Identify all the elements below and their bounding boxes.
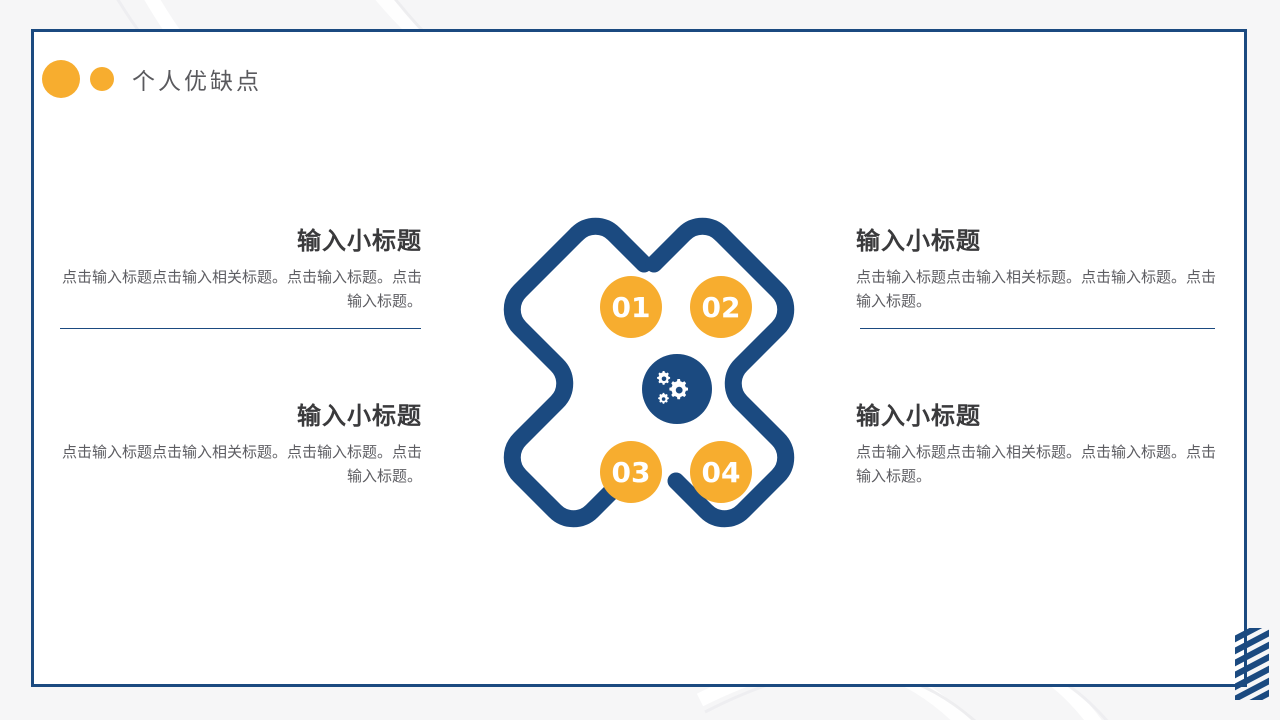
block-body-top-left: 点击输入标题点击输入相关标题。点击输入标题。点击输入标题。 (60, 265, 422, 314)
slide-header: 个人优缺点 (42, 54, 262, 104)
block-body-bottom-left: 点击输入标题点击输入相关标题。点击输入标题。点击输入标题。 (60, 440, 422, 489)
diagonal-stripes-decoration (1235, 628, 1269, 700)
diagram-node-02-label: 02 (702, 291, 741, 324)
text-block-bottom-left: 输入小标题 点击输入标题点击输入相关标题。点击输入标题。点击输入标题。 (60, 402, 422, 488)
block-heading-bottom-right: 输入小标题 (856, 402, 1216, 431)
text-block-bottom-right: 输入小标题 点击输入标题点击输入相关标题。点击输入标题。点击输入标题。 (856, 402, 1216, 488)
diagram-node-03-label: 03 (612, 456, 651, 489)
text-block-top-right: 输入小标题 点击输入标题点击输入相关标题。点击输入标题。点击输入标题。 (856, 227, 1216, 329)
page-title: 个人优缺点 (132, 62, 262, 96)
gears-icon (655, 369, 699, 409)
text-block-top-left: 输入小标题 点击输入标题点击输入相关标题。点击输入标题。点击输入标题。 (60, 227, 422, 329)
orange-dot-small-icon (90, 67, 114, 91)
slide-card: 个人优缺点 输入小标题 点击输入标题点击输入相关标题。点击输入标题。点击输入标题… (31, 29, 1247, 687)
diagram-node-04-label: 04 (702, 456, 741, 489)
diagram-center-hub[interactable] (642, 354, 712, 424)
diagram-node-01[interactable]: 01 (600, 276, 662, 338)
diagram-node-02[interactable]: 02 (690, 276, 752, 338)
orange-dot-large-icon (42, 60, 80, 98)
block-body-top-right: 点击输入标题点击输入相关标题。点击输入标题。点击输入标题。 (856, 265, 1216, 314)
block-heading-top-left: 输入小标题 (60, 227, 422, 256)
diagram-node-04[interactable]: 04 (690, 441, 752, 503)
block-divider-top-left (60, 328, 421, 329)
diagram-node-03[interactable]: 03 (600, 441, 662, 503)
diagram-node-01-label: 01 (612, 291, 651, 324)
block-heading-bottom-left: 输入小标题 (60, 402, 422, 431)
block-heading-top-right: 输入小标题 (856, 227, 1216, 256)
block-divider-top-right (860, 328, 1215, 329)
block-body-bottom-right: 点击输入标题点击输入相关标题。点击输入标题。点击输入标题。 (856, 440, 1216, 489)
